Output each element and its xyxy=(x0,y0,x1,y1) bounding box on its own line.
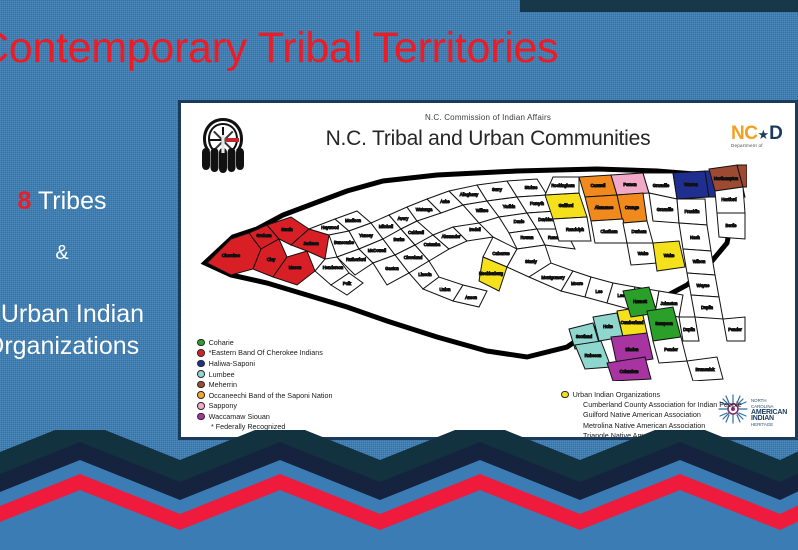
svg-text:Yancey: Yancey xyxy=(359,233,374,238)
county-label: Columbus xyxy=(620,369,639,374)
svg-text:Ashe: Ashe xyxy=(440,199,450,204)
svg-text:Buncombe: Buncombe xyxy=(334,240,355,245)
county-label: Macon xyxy=(289,265,302,270)
county-label: Guilford xyxy=(559,203,574,208)
legend-item: Sappony xyxy=(197,401,332,412)
svg-text:Haywood: Haywood xyxy=(321,225,339,230)
legend-color-swatch xyxy=(197,391,205,399)
county-label: Hoke xyxy=(603,324,613,329)
legend-item: Coharie xyxy=(197,337,332,348)
tribes-line: 8 Tribes xyxy=(0,186,162,216)
legend-label: Lumbee xyxy=(209,370,235,379)
page-title: Contemporary Tribal Territories xyxy=(0,22,738,74)
svg-text:Anson: Anson xyxy=(465,295,478,300)
svg-text:Rowan: Rowan xyxy=(520,235,534,240)
svg-text:Union: Union xyxy=(440,287,452,292)
svg-text:Moore: Moore xyxy=(571,281,584,286)
legend-item: Haliwa-Saponi xyxy=(197,358,332,369)
svg-text:Lincoln: Lincoln xyxy=(418,272,432,277)
heritage-line-3: HERITAGE xyxy=(751,422,789,428)
svg-text:Wake: Wake xyxy=(638,251,649,256)
county-label: Person xyxy=(623,182,637,187)
svg-text:Johnston: Johnston xyxy=(661,301,679,306)
svg-text:Yadkin: Yadkin xyxy=(503,204,516,209)
svg-text:Gaston: Gaston xyxy=(385,266,399,271)
legend-color-swatch xyxy=(197,349,205,357)
ampersand: & xyxy=(0,238,162,268)
svg-text:Brunswick: Brunswick xyxy=(695,367,715,372)
svg-text:Polk: Polk xyxy=(343,281,352,286)
nc-logo-star-icon: ★ xyxy=(757,127,769,142)
county-label: Clay xyxy=(267,257,276,262)
svg-text:Bertie: Bertie xyxy=(726,223,738,228)
svg-text:Surry: Surry xyxy=(492,187,503,192)
county-label: Caswell xyxy=(591,183,606,188)
svg-text:Burke: Burke xyxy=(394,237,406,242)
urban-color-swatch xyxy=(561,391,569,399)
legend-item: Meherrin xyxy=(197,379,332,390)
county-label: Swain xyxy=(281,227,293,232)
svg-text:Rutherford: Rutherford xyxy=(346,257,366,262)
county-label: Robeson xyxy=(585,353,602,358)
svg-text:Durham: Durham xyxy=(632,229,647,234)
county-label: Cumberland xyxy=(621,320,644,325)
legend-item: Waccamaw Siouan xyxy=(197,411,332,422)
svg-text:Pender: Pender xyxy=(728,327,742,332)
slide-canvas: Contemporary Tribal Territories 8 Tribes… xyxy=(0,0,798,550)
urban-org-item: Cumberland County Association for Indian… xyxy=(583,400,742,410)
top-accent-strip xyxy=(520,0,798,12)
nc-logo-nc: NC xyxy=(731,123,757,144)
svg-text:Wayne: Wayne xyxy=(697,283,711,288)
county-label: Northampton xyxy=(714,176,739,181)
county-label: Wake xyxy=(664,253,675,258)
svg-text:Granville: Granville xyxy=(653,183,670,188)
svg-text:Chatham: Chatham xyxy=(601,229,619,234)
summary-column: 8 Tribes & 4 Urban Indian Organizations xyxy=(0,186,162,362)
svg-text:Forsyth: Forsyth xyxy=(530,201,545,206)
county-label: Graham xyxy=(256,233,272,238)
legend-color-swatch xyxy=(197,370,205,378)
svg-text:Watauga: Watauga xyxy=(416,207,433,212)
svg-text:Pender: Pender xyxy=(664,347,678,352)
svg-text:Randolph: Randolph xyxy=(566,227,585,232)
urban-org-item: Guilford Native American Association xyxy=(583,410,742,420)
nc-dncr-logo: NC★D Department of xyxy=(731,123,798,153)
svg-text:Cleveland: Cleveland xyxy=(404,255,423,260)
svg-text:Caldwell: Caldwell xyxy=(408,230,424,235)
legend-label: Haliwa-Saponi xyxy=(209,359,255,368)
svg-text:Granville: Granville xyxy=(657,207,674,212)
svg-text:Catawba: Catawba xyxy=(424,242,441,247)
svg-text:Alleghany: Alleghany xyxy=(460,192,479,197)
tribe-legend: Coharie *Eastern Band Of Cherokee Indian… xyxy=(197,337,332,431)
svg-text:McDowell: McDowell xyxy=(368,248,386,253)
heritage-line-2: AMERICAN INDIAN xyxy=(751,409,787,422)
legend-label: Waccamaw Siouan xyxy=(209,412,270,421)
svg-text:Madison: Madison xyxy=(345,218,361,223)
county-label: Sampson xyxy=(655,321,673,326)
svg-text:Henderson: Henderson xyxy=(323,265,344,270)
tribes-count: 8 xyxy=(18,187,32,215)
legend-item: Lumbee xyxy=(197,369,332,380)
county-label: Scotland xyxy=(576,334,593,339)
svg-text:Stokes: Stokes xyxy=(525,185,538,190)
legend-color-swatch xyxy=(197,381,205,389)
map-subtitle: N.C. Commission of Indian Affairs xyxy=(181,113,795,122)
orgs-line-1: 4 Urban Indian xyxy=(0,298,162,330)
svg-text:Duplin: Duplin xyxy=(683,327,696,332)
legend-color-swatch xyxy=(197,360,205,368)
svg-text:Wilson: Wilson xyxy=(693,259,706,264)
svg-text:Mitchell: Mitchell xyxy=(379,224,393,229)
orgs-line-2: Organizations xyxy=(0,330,162,362)
nc-logo-d: D xyxy=(769,123,783,144)
legend-color-swatch xyxy=(197,402,205,410)
county-label: Jackson xyxy=(303,241,319,246)
svg-text:Iredell: Iredell xyxy=(469,227,480,232)
county-label: Harnett xyxy=(633,299,648,304)
map-panel: N.C. Commission of Indian Affairs N.C. T… xyxy=(178,100,798,440)
chevron-band xyxy=(0,430,798,550)
svg-text:Wilkes: Wilkes xyxy=(476,208,488,213)
legend-label: Occaneechi Band of the Saponi Nation xyxy=(209,391,333,400)
svg-text:Cabarrus: Cabarrus xyxy=(492,251,509,256)
svg-text:Davie: Davie xyxy=(514,219,525,224)
county-label: Cherokee xyxy=(222,253,241,258)
svg-text:Rockingham: Rockingham xyxy=(551,183,575,188)
legend-label: *Eastern Band Of Cherokee Indians xyxy=(209,348,323,357)
urban-heading: Urban Indian Organizations xyxy=(573,390,661,399)
svg-text:Hertford: Hertford xyxy=(721,197,737,202)
county-label: Alamance xyxy=(595,205,614,210)
county-label: Warren xyxy=(684,182,698,187)
urban-heading-row: Urban Indian Organizations xyxy=(561,389,742,400)
svg-text:Duplin: Duplin xyxy=(701,305,714,310)
legend-item: *Eastern Band Of Cherokee Indians xyxy=(197,348,332,359)
legend-color-swatch xyxy=(197,413,205,421)
tribes-label: Tribes xyxy=(38,187,107,215)
svg-text:Stanly: Stanly xyxy=(525,259,538,264)
legend-item: Occaneechi Band of the Saponi Nation xyxy=(197,390,332,401)
svg-text:Avery: Avery xyxy=(398,216,410,221)
county-label: Bladen xyxy=(625,347,639,352)
orgs-label-1: Urban Indian xyxy=(1,300,144,328)
svg-text:Franklin: Franklin xyxy=(685,209,701,214)
svg-text:Alexander: Alexander xyxy=(442,234,461,239)
county-label: Mecklenburg xyxy=(479,271,504,276)
svg-text:Montgomery: Montgomery xyxy=(541,275,565,280)
legend-label: Sappony xyxy=(209,401,237,410)
legend-color-swatch xyxy=(197,339,205,347)
county-label: Orange xyxy=(625,205,640,210)
legend-label: Meherrin xyxy=(209,380,237,389)
legend-label: Coharie xyxy=(209,338,234,347)
map-title: N.C. Tribal and Urban Communities xyxy=(181,127,795,151)
svg-text:Nash: Nash xyxy=(690,235,700,240)
svg-text:Lee: Lee xyxy=(596,289,604,294)
